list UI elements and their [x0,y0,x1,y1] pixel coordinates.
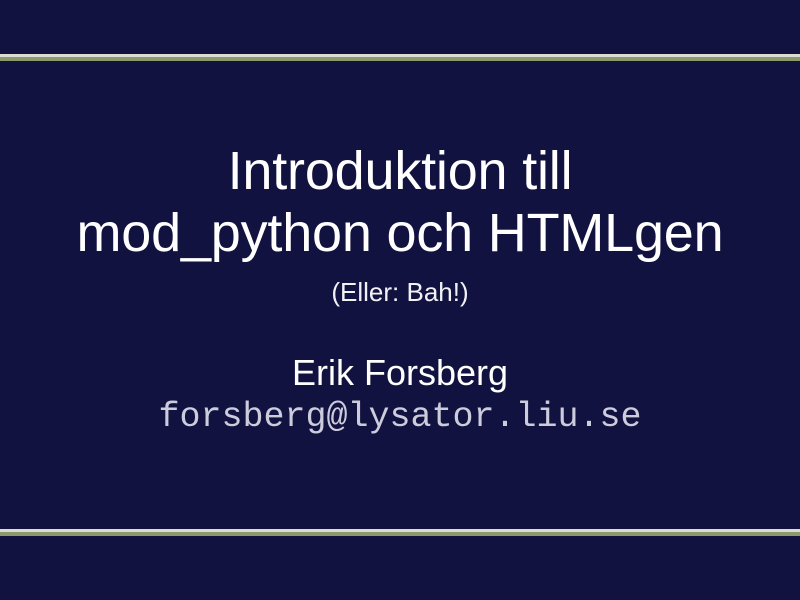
title-line-1: Introduktion till [0,140,800,202]
slide-subtitle: (Eller: Bah!) [0,277,800,307]
bottom-divider-green-band [0,532,800,536]
top-divider-rule [0,54,800,61]
author-name: Erik Forsberg [0,352,800,394]
presentation-slide: Introduktion till mod_python och HTMLgen… [0,0,800,600]
title-line-2: mod_python och HTMLgen [0,202,800,264]
bottom-divider-rule [0,529,800,536]
top-divider-green-band [0,57,800,61]
author-email: forsberg@lysator.liu.se [0,396,800,438]
slide-title: Introduktion till mod_python och HTMLgen [0,140,800,264]
